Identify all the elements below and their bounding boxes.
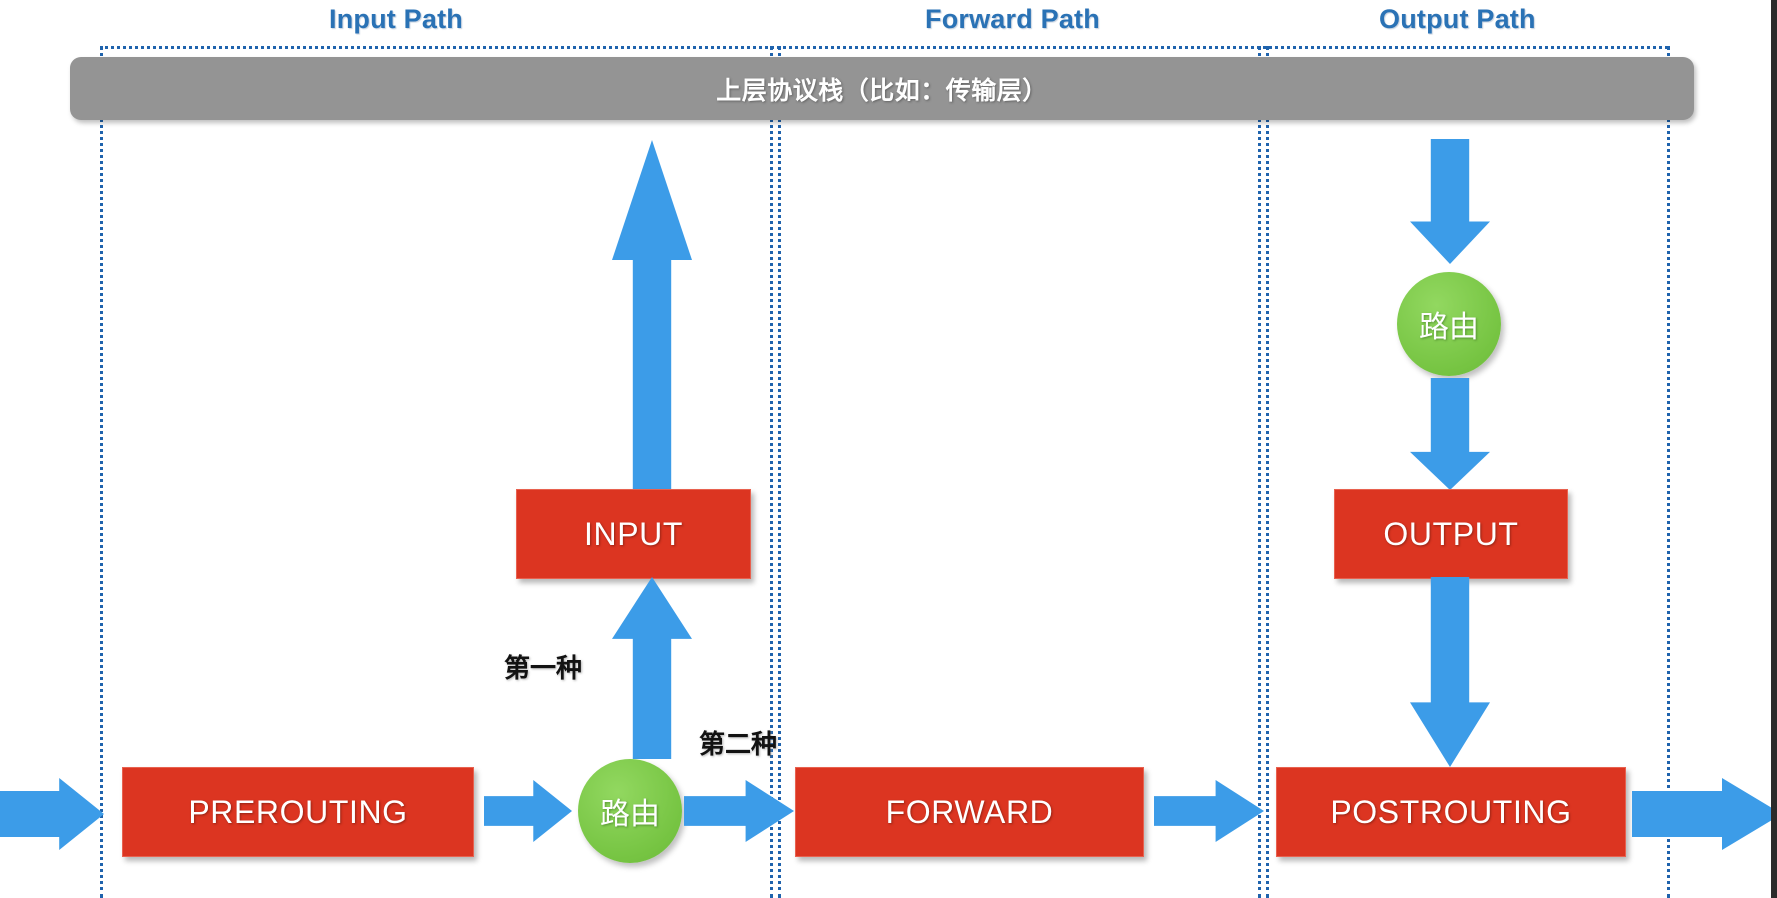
zone-boundary-input-forward-b [778, 46, 781, 898]
zone-boundary-forward-output-a [1258, 46, 1261, 898]
zone-label-forward-path: Forward Path [925, 4, 1100, 35]
chain-label-output: OUTPUT [1383, 516, 1518, 553]
zone-label-input-path: Input Path [329, 4, 463, 35]
routing-decision-output[interactable]: 路由 [1397, 272, 1501, 376]
chain-box-output[interactable]: OUTPUT [1334, 489, 1568, 579]
annotation-second-method: 第二种 [699, 724, 777, 761]
arrow-output-to-postrouting [1410, 577, 1490, 767]
chain-box-postrouting[interactable]: POSTROUTING [1276, 767, 1626, 857]
zone-boundary-top-line [100, 46, 1668, 49]
arrow-input-to-stack [612, 140, 692, 493]
chain-label-prerouting: PREROUTING [188, 794, 407, 831]
zone-boundary-left-edge [100, 46, 103, 898]
chain-label-input: INPUT [584, 516, 683, 553]
chain-box-input[interactable]: INPUT [516, 489, 751, 579]
chain-label-forward: FORWARD [886, 794, 1054, 831]
page-right-edge [1771, 0, 1777, 898]
zone-boundary-right-edge [1667, 46, 1670, 898]
arrow-stack-to-router-output [1410, 139, 1490, 264]
routing-decision-input[interactable]: 路由 [578, 759, 682, 863]
annotation-first-method: 第一种 [504, 648, 582, 685]
zone-label-output-path: Output Path [1379, 4, 1536, 35]
arrow-prerouting-to-router [484, 780, 572, 842]
arrow-egress-exit [1632, 778, 1777, 850]
routing-decision-input-label: 路由 [600, 789, 660, 833]
arrow-router-to-input [612, 577, 692, 759]
diagram-canvas: Input Path Forward Path Output Path 上层协议… [0, 0, 1777, 898]
routing-decision-output-label: 路由 [1419, 302, 1479, 346]
arrow-ingress-entry [0, 778, 104, 850]
arrow-router-to-output [1410, 378, 1490, 490]
zone-boundary-input-forward-a [770, 46, 773, 898]
arrow-forward-to-postrouting [1154, 780, 1264, 842]
zone-boundary-forward-output-b [1266, 46, 1269, 898]
upper-protocol-stack-bar: 上层协议栈（比如：传输层） [70, 57, 1694, 120]
chain-label-postrouting: POSTROUTING [1330, 794, 1571, 831]
chain-box-forward[interactable]: FORWARD [795, 767, 1144, 857]
upper-protocol-stack-label: 上层协议栈（比如：传输层） [716, 71, 1048, 107]
chain-box-prerouting[interactable]: PREROUTING [122, 767, 474, 857]
